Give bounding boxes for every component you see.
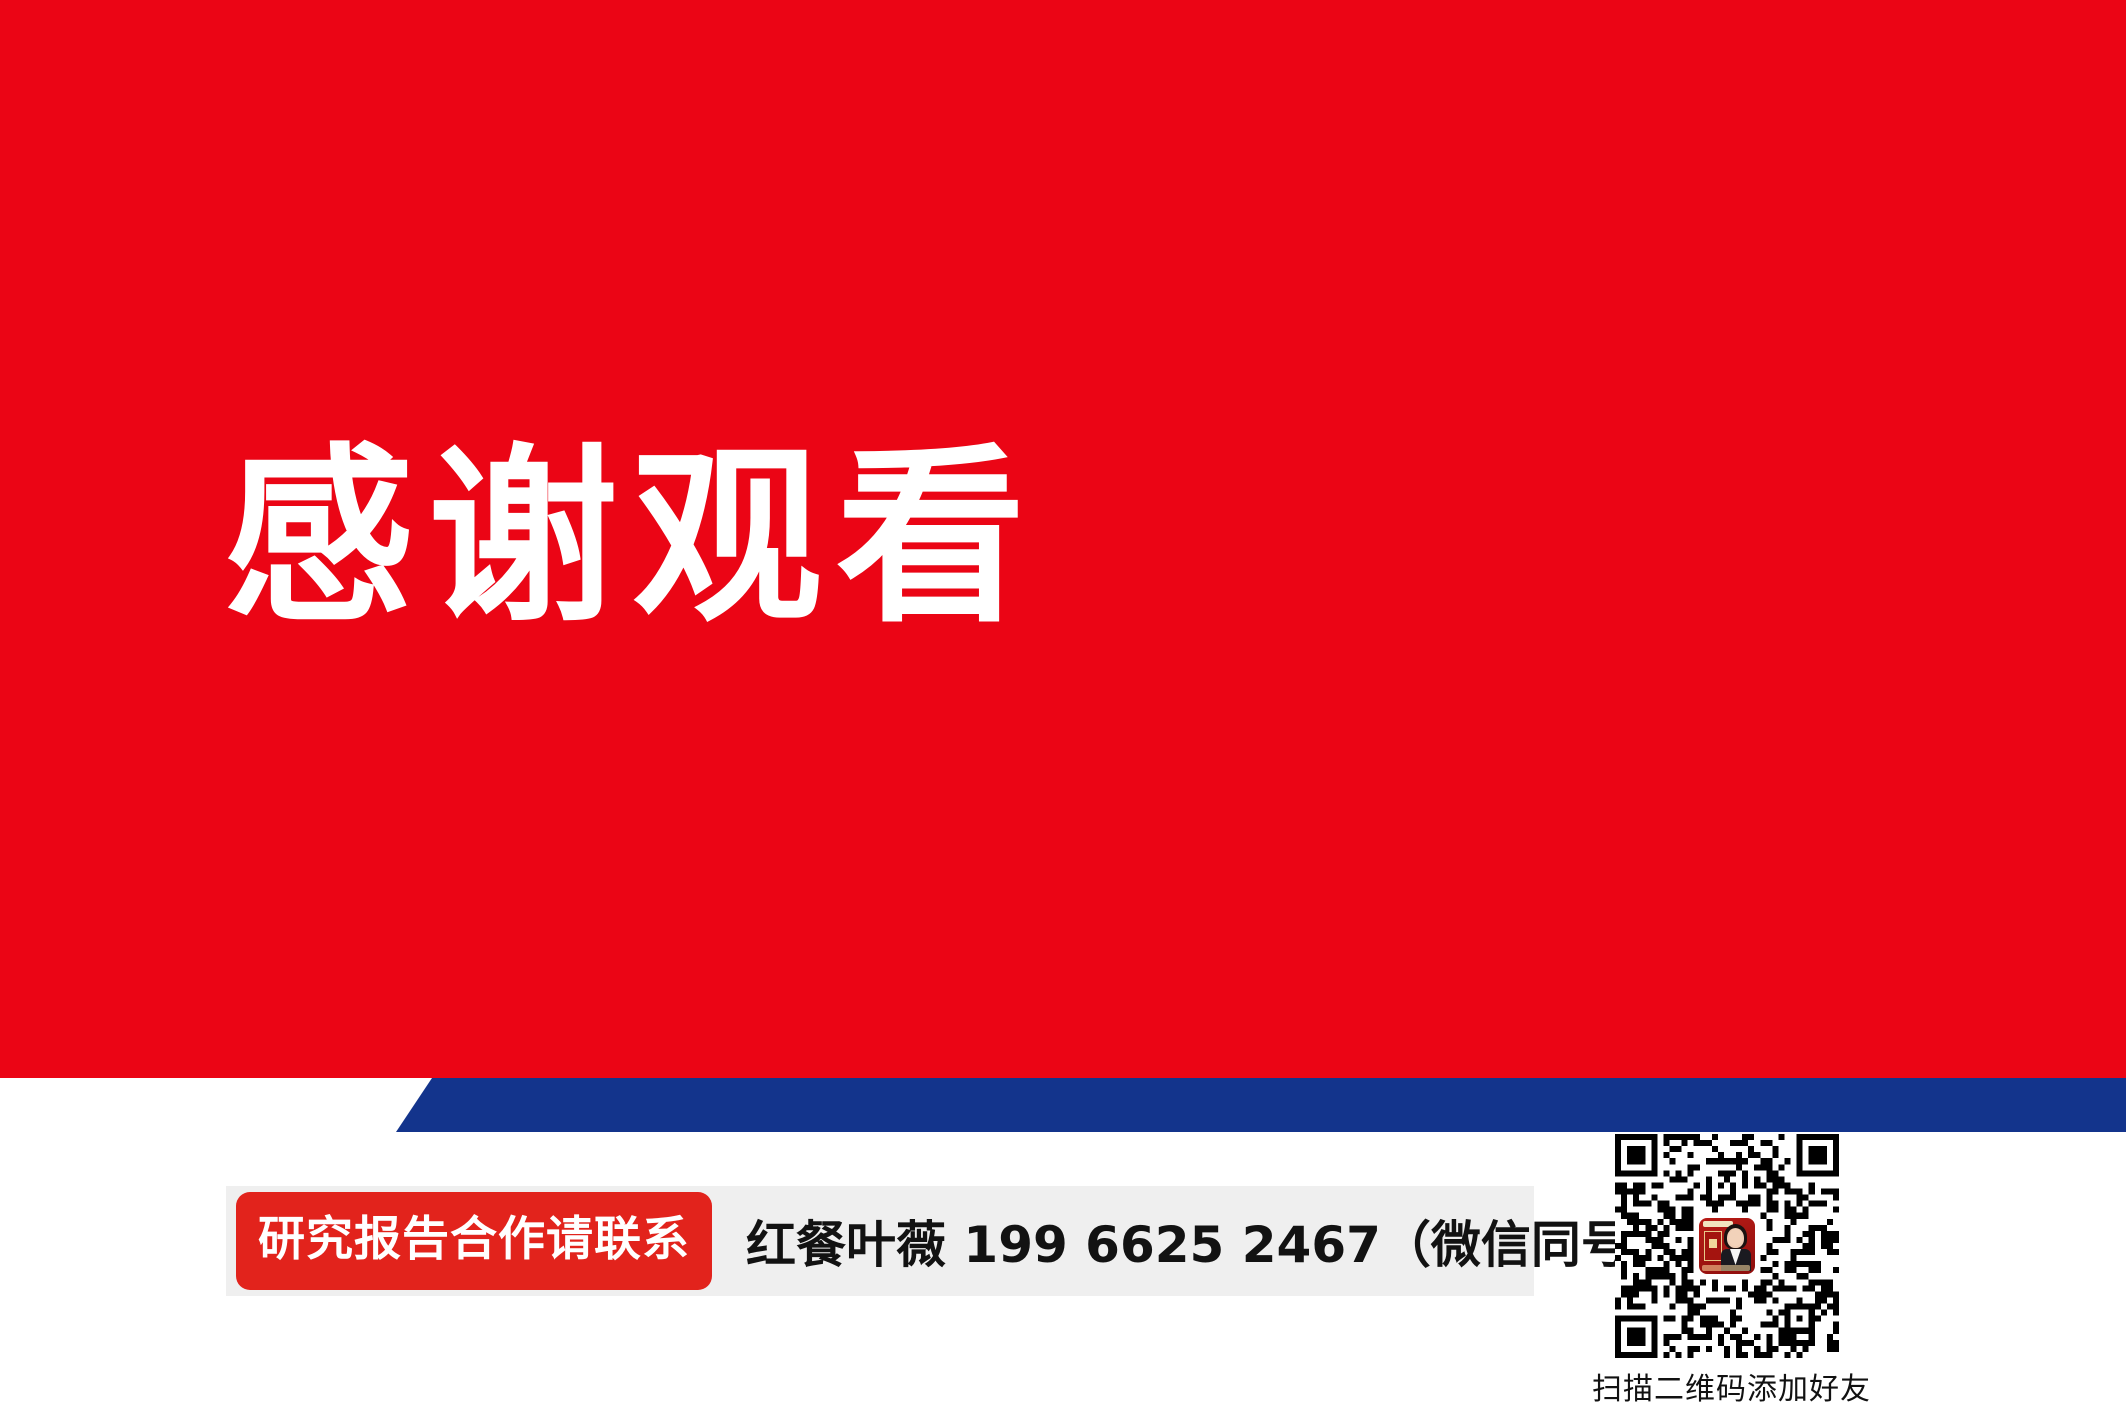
blue-diagonal-band [0,1078,2126,1132]
contact-strip: 研究报告合作请联系 红餐叶薇 199 6625 2467（微信同号） [226,1186,1534,1296]
hero-red-panel: 感谢观看 [0,0,2126,1078]
slide-root: 感谢观看 研究报告合作请联系 红餐叶薇 199 6625 2467（微信同号） … [0,0,2126,1418]
page-title: 感谢观看 [224,438,1040,638]
qr-caption: 扫描二维码添加好友 [1592,1364,1862,1408]
contact-detail-text: 红餐叶薇 199 6625 2467（微信同号） [746,1205,1681,1277]
qr-block: 扫描二维码添加好友 [1592,1134,1862,1408]
person-avatar-icon [1697,1216,1757,1276]
qr-code[interactable] [1615,1134,1839,1358]
contact-badge: 研究报告合作请联系 [236,1192,712,1290]
